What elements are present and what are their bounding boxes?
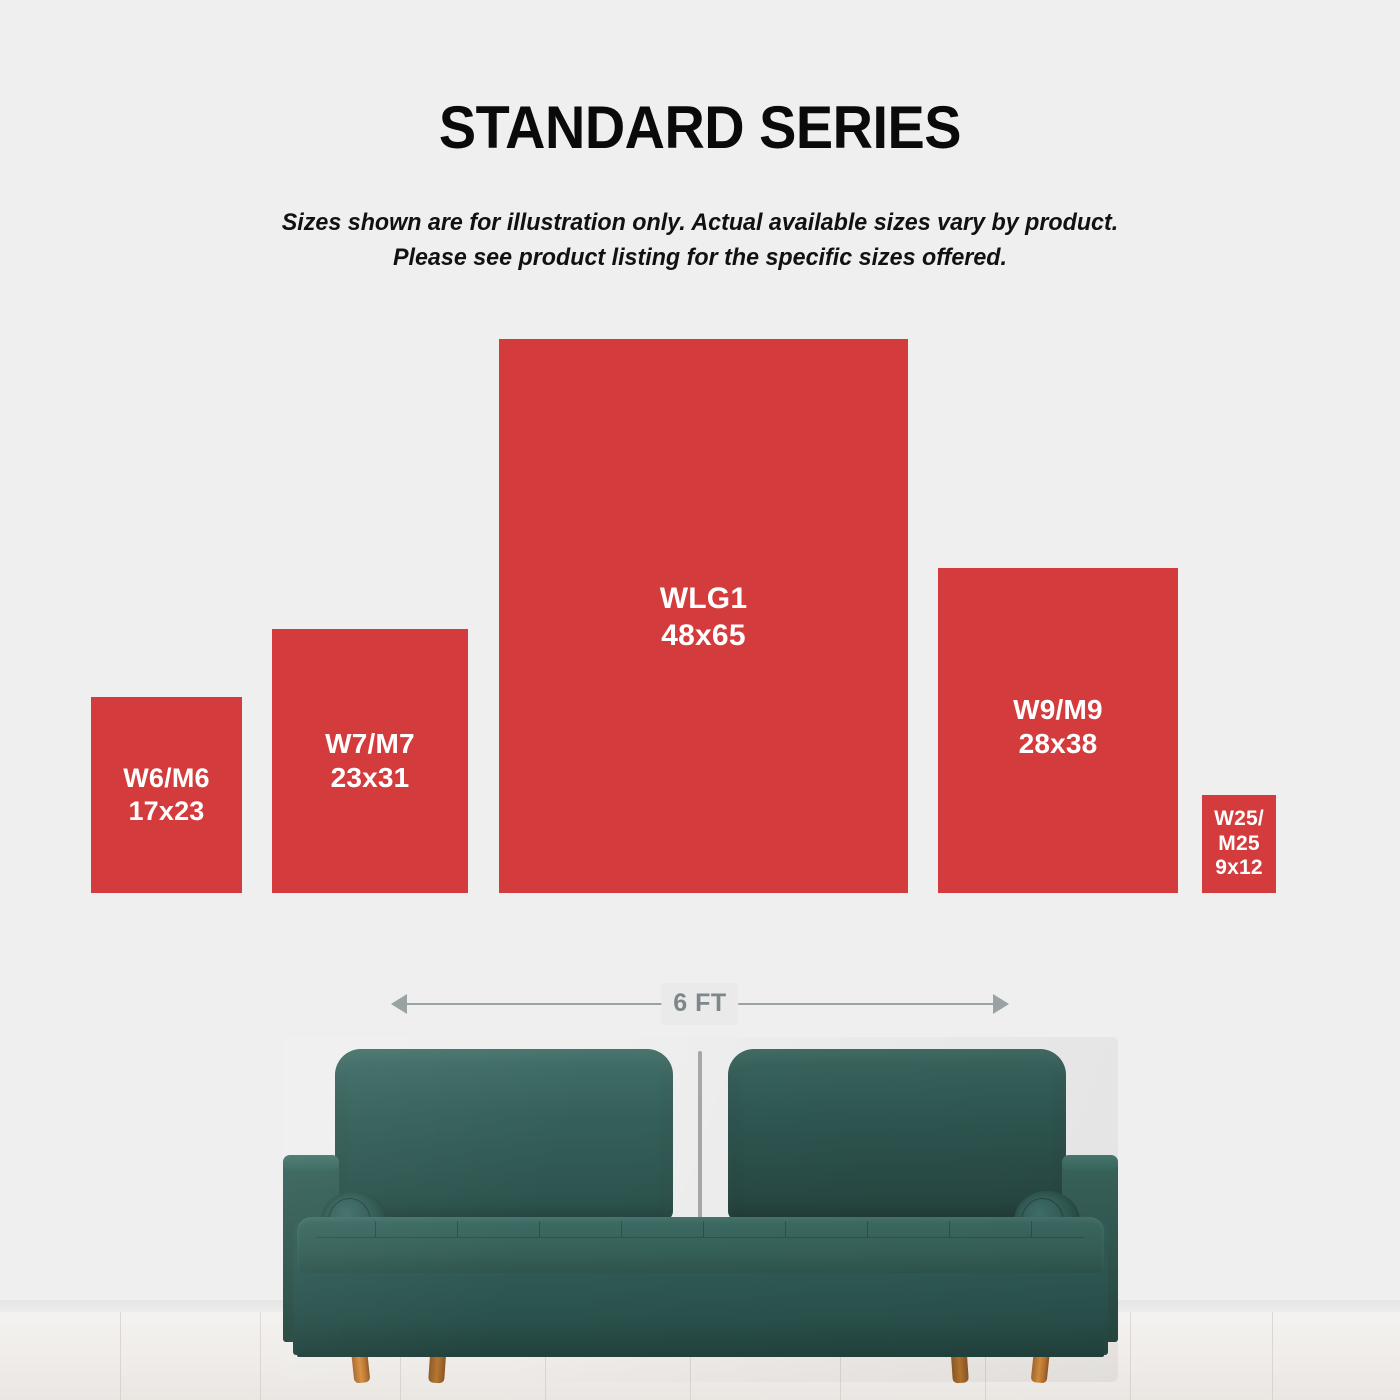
frame-size-w9: 28x38: [1013, 727, 1103, 761]
frame-swatch-w25[interactable]: W25/ M25 9x12: [1202, 795, 1276, 893]
frame-label-w7: W7/M7 23x31: [325, 727, 415, 795]
sofa-apron: [297, 1273, 1104, 1357]
frame-size-wlg1: 48x65: [660, 618, 747, 655]
sofa-back-cushion-left: [335, 1049, 673, 1221]
sofa-back-cushion-right: [728, 1049, 1066, 1221]
frame-label-w9: W9/M9 28x38: [1013, 693, 1103, 761]
page-title: STANDARD SERIES: [49, 96, 1351, 159]
frame-swatch-w9[interactable]: W9/M9 28x38: [938, 568, 1178, 893]
subtitle-line-2: Please see product listing for the speci…: [35, 241, 1365, 276]
frame-label-w6: W6/M6 17x23: [123, 762, 210, 828]
sofa-arm-top-right: [1062, 1155, 1118, 1171]
frame-name-w25: W25/: [1214, 807, 1264, 830]
dimension-indicator: 6 FT: [392, 1003, 1008, 1005]
frame-name-w6: W6/M6: [123, 763, 210, 793]
frame-size-w25: 9x12: [1214, 856, 1264, 881]
frame-swatch-w7[interactable]: W7/M7 23x31: [272, 629, 468, 893]
frame-swatch-wlg1[interactable]: WLG1 48x65: [499, 339, 908, 893]
sofa-seat-cushion: [297, 1217, 1104, 1281]
sofa-cushion-seam: [698, 1051, 702, 1219]
sofa-arm-top-left: [283, 1155, 339, 1171]
page-subtitle: Sizes shown are for illustration only. A…: [35, 206, 1365, 276]
size-guide-canvas: STANDARD SERIES Sizes shown are for illu…: [0, 0, 1400, 1400]
frame-size-w7: 23x31: [325, 761, 415, 795]
dimension-label: 6 FT: [661, 983, 738, 1025]
green-velvet-sofa: [283, 1037, 1118, 1382]
subtitle-line-1: Sizes shown are for illustration only. A…: [35, 206, 1365, 241]
frame-name-w7: W7/M7: [325, 728, 415, 759]
frame-name-wlg1: WLG1: [660, 582, 747, 615]
frame-size-w6: 17x23: [123, 795, 210, 828]
frame-swatch-w6[interactable]: W6/M6 17x23: [91, 697, 242, 893]
frame-name-w9: W9/M9: [1013, 694, 1103, 725]
frame-label-w25: W25/ M25 9x12: [1214, 807, 1264, 881]
frame-label-wlg1: WLG1 48x65: [660, 581, 747, 654]
frame-name2-w25: M25: [1214, 832, 1264, 857]
arrow-right-icon: [993, 994, 1009, 1014]
